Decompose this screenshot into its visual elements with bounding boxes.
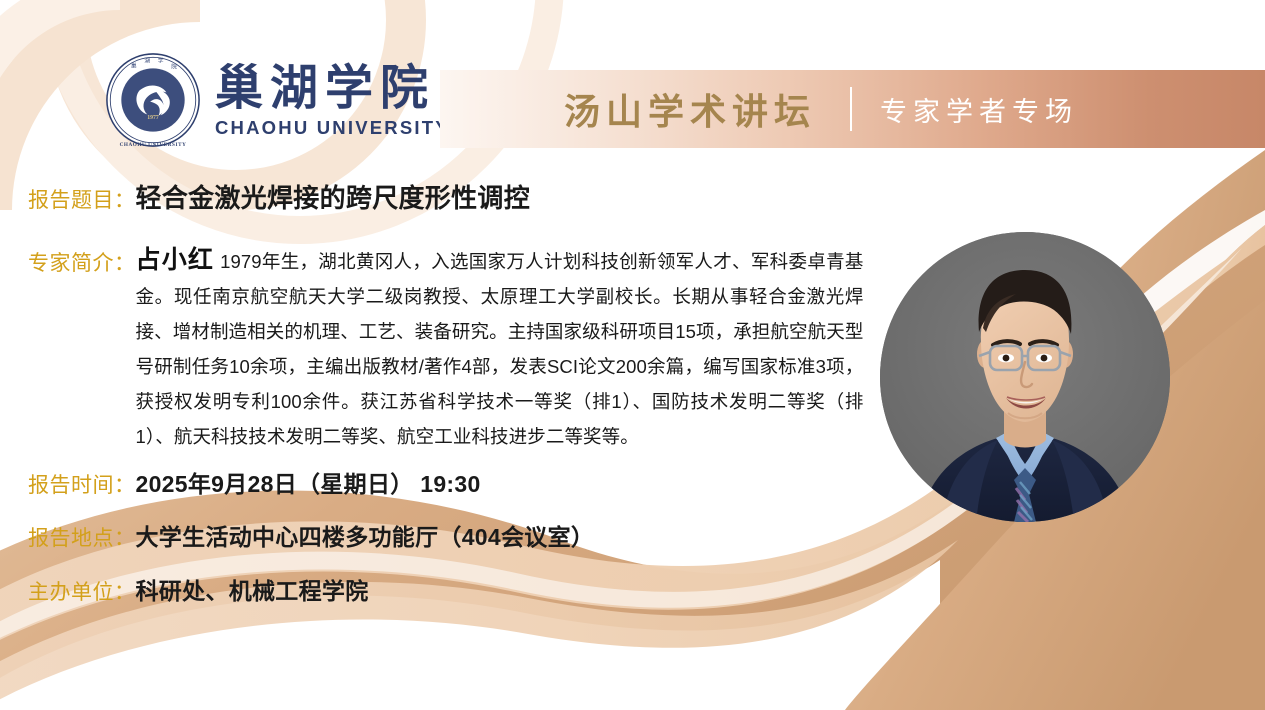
speaker-bio-label: 专家简介： bbox=[28, 247, 136, 277]
university-name-en: CHAOHU UNIVERSITY bbox=[215, 117, 450, 139]
svg-text:CHAOHU UNIVERSITY: CHAOHU UNIVERSITY bbox=[120, 142, 187, 148]
forum-banner: 汤山学术讲坛 专家学者专场 bbox=[440, 70, 1265, 148]
report-title-label: 报告题目： bbox=[28, 184, 136, 214]
speaker-bio-text: 1979年生，湖北黄冈人，入选国家万人计划科技创新领军人才、军科委卓青基金。现任… bbox=[136, 251, 864, 447]
forum-banner-subtitle: 专家学者专场 bbox=[880, 90, 1078, 129]
svg-text:1977: 1977 bbox=[147, 115, 159, 121]
report-place-row: 报告地点： 大学生活动中心四楼多功能厅（404会议室） bbox=[28, 518, 594, 552]
university-emblem-icon: 1977 CHAOHU UNIVERSITY 巢 湖 学 院 bbox=[105, 52, 201, 148]
report-host-label: 主办单位： bbox=[28, 576, 136, 606]
svg-text:院: 院 bbox=[171, 62, 177, 70]
speaker-portrait bbox=[880, 232, 1170, 522]
report-time-row: 报告时间： 2025年9月28日（星期日） 19:30 bbox=[28, 465, 481, 499]
speaker-bio-row: 专家简介： 占小红1979年生，湖北黄冈人，入选国家万人计划科技创新领军人才、军… bbox=[28, 243, 878, 454]
report-place-value: 大学生活动中心四楼多功能厅（404会议室） bbox=[136, 518, 595, 552]
report-place-label: 报告地点： bbox=[28, 522, 136, 552]
forum-banner-title: 汤山学术讲坛 bbox=[564, 83, 816, 135]
poster-header: 1977 CHAOHU UNIVERSITY 巢 湖 学 院 巢湖学院 CHAO… bbox=[0, 0, 1265, 160]
speaker-portrait-image bbox=[880, 232, 1170, 522]
speaker-name: 占小红 bbox=[136, 246, 221, 274]
banner-divider bbox=[850, 87, 852, 131]
report-host-row: 主办单位： 科研处、机械工程学院 bbox=[28, 572, 369, 606]
report-time-label: 报告时间： bbox=[28, 469, 136, 499]
university-wordmark: 巢湖学院 CHAOHU UNIVERSITY bbox=[215, 64, 450, 139]
svg-text:学: 学 bbox=[158, 57, 164, 65]
report-time-value: 2025年9月28日（星期日） 19:30 bbox=[136, 465, 481, 499]
svg-text:湖: 湖 bbox=[144, 57, 150, 65]
report-title-row: 报告题目： 轻合金激光焊接的跨尺度形性调控 bbox=[28, 178, 530, 215]
poster-root: 1977 CHAOHU UNIVERSITY 巢 湖 学 院 巢湖学院 CHAO… bbox=[0, 0, 1265, 710]
speaker-bio-body: 占小红1979年生，湖北黄冈人，入选国家万人计划科技创新领军人才、军科委卓青基金… bbox=[136, 243, 864, 454]
svg-text:巢: 巢 bbox=[131, 61, 137, 69]
university-name-cn: 巢湖学院 bbox=[215, 64, 435, 112]
decor-bottomleft-cutout bbox=[0, 540, 958, 710]
report-title-value: 轻合金激光焊接的跨尺度形性调控 bbox=[136, 178, 531, 215]
report-host-value: 科研处、机械工程学院 bbox=[136, 572, 369, 606]
university-logo-block: 1977 CHAOHU UNIVERSITY 巢 湖 学 院 巢湖学院 CHAO… bbox=[105, 52, 450, 148]
